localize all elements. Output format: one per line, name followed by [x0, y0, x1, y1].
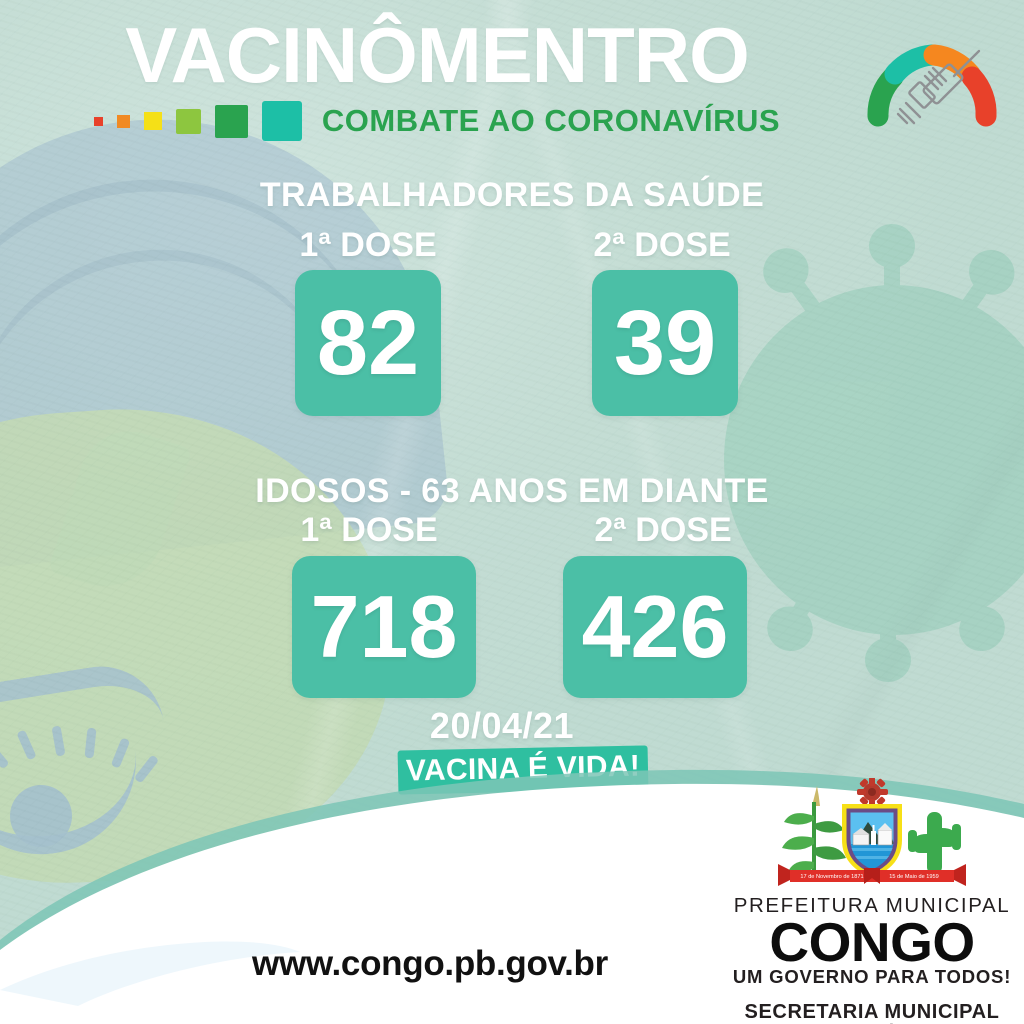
logo-city-name: CONGO [722, 916, 1022, 968]
dose-value-box-elderly-1: 718 [292, 556, 476, 698]
legend-square-5 [215, 105, 248, 138]
dose-value-elderly-1: 718 [311, 583, 458, 671]
ribbon-date-left: 17 de Novembro de 1871 [800, 874, 863, 880]
legend-square-2 [117, 115, 130, 128]
page-subtitle: COMBATE AO CORONAVÍRUS [322, 103, 780, 139]
gauge-syringe-icon [862, 22, 1002, 130]
logo-tagline: UM GOVERNO PARA TODOS! [722, 966, 1022, 988]
legend-square-4 [176, 109, 201, 134]
municipal-logo: 17 de Novembro de 1871 15 de Maio de 195… [722, 778, 1022, 1024]
legend-square-1 [94, 117, 103, 126]
dose-value-box-workers-1: 82 [295, 270, 441, 416]
section-heading-elderly: IDOSOS - 63 ANOS EM DIANTE [0, 472, 1024, 511]
logo-secretaria-line-1: SECRETARIA MUNICIPAL [722, 1000, 1022, 1024]
vaccination-poster: VACINÔMENTRO COMBATE AO CORONAVÍRUS [0, 0, 1024, 1024]
dose-label-workers-2: 2ª DOSE [582, 226, 742, 265]
dose-value-workers-2: 39 [614, 297, 716, 389]
cactus-icon [908, 812, 961, 874]
legend-square-6 [262, 101, 302, 141]
coat-of-arms-icon: 17 de Novembro de 1871 15 de Maio de 195… [722, 778, 1022, 890]
dose-value-box-workers-2: 39 [592, 270, 738, 416]
shield-icon [842, 804, 902, 878]
dose-label-elderly-1: 1ª DOSE [284, 511, 454, 550]
ribbon-date-right: 15 de Maio de 1959 [889, 874, 938, 880]
dose-label-workers-1: 1ª DOSE [288, 226, 448, 265]
corn-stalk-icon [782, 786, 846, 874]
sun-icon [857, 778, 888, 808]
dose-value-elderly-2: 426 [582, 583, 729, 671]
dose-label-elderly-2: 2ª DOSE [578, 511, 748, 550]
website-url[interactable]: www.congo.pb.gov.br [150, 944, 710, 984]
dose-value-workers-1: 82 [317, 297, 419, 389]
section-heading-workers: TRABALHADORES DA SAÚDE [0, 176, 1024, 215]
logo-secretaria: SECRETARIA MUNICIPAL DE SAÚDE [722, 1000, 1022, 1024]
legend-square-3 [144, 112, 162, 130]
dose-value-box-elderly-2: 426 [563, 556, 747, 698]
